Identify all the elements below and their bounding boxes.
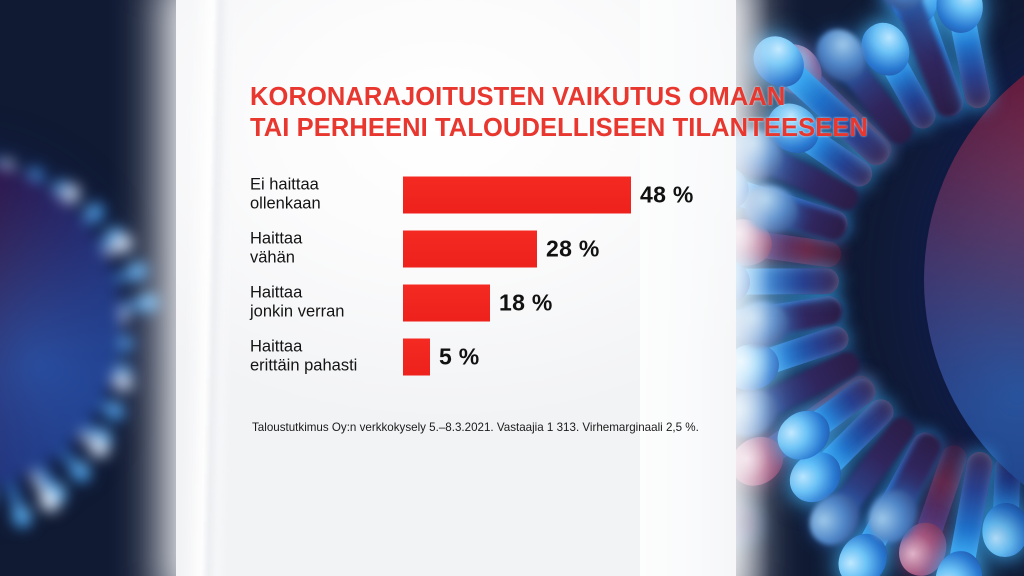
infographic-canvas: KORONARAJOITUSTEN VAIKUTUS OMAAN TAI PER… xyxy=(0,0,1024,576)
bar-value-label: 18 % xyxy=(499,290,553,317)
bar-category-label-line-2: ollenkaan xyxy=(250,195,400,214)
bar-category-label-line-2: vähän xyxy=(250,249,400,268)
source-footnote: Taloustutkimus Oy:n verkkokysely 5.–8.3.… xyxy=(252,421,892,434)
page-title: KORONARAJOITUSTEN VAIKUTUS OMAAN TAI PER… xyxy=(250,82,890,143)
title-line-1: KORONARAJOITUSTEN VAIKUTUS OMAAN xyxy=(250,82,890,113)
bar-category-label-line-1: Ei haittaa xyxy=(250,176,400,195)
bar-category-label-line-1: Haittaa xyxy=(250,230,400,249)
bar-and-value: 5 % xyxy=(403,339,480,376)
bar-category-label: Haittaavähän xyxy=(250,230,400,269)
bar-category-label: Ei haittaaollenkaan xyxy=(250,176,400,215)
bar-and-value: 28 % xyxy=(403,231,600,268)
bar-value-label: 48 % xyxy=(640,182,694,209)
chart-row: Haittaavähän28 % xyxy=(250,222,950,276)
bar-category-label-line-1: Haittaa xyxy=(250,338,400,357)
bar-and-value: 48 % xyxy=(403,177,694,214)
chart-row: Ei haittaaollenkaan48 % xyxy=(250,168,950,222)
bar xyxy=(403,231,537,268)
bar-chart: Ei haittaaollenkaan48 %Haittaavähän28 %H… xyxy=(250,168,950,384)
bar-category-label-line-2: jonkin verran xyxy=(250,303,400,322)
bar-value-label: 28 % xyxy=(546,236,600,263)
bar-category-label: Haittaajonkin verran xyxy=(250,284,400,323)
bar-value-label: 5 % xyxy=(439,344,480,371)
title-line-2: TAI PERHEENI TALOUDELLISEEN TILANTEESEEN xyxy=(250,113,890,144)
chart-row: Haittaaerittäin pahasti5 % xyxy=(250,330,950,384)
bar-category-label-line-2: erittäin pahasti xyxy=(250,357,400,376)
bar-category-label: Haittaaerittäin pahasti xyxy=(250,338,400,377)
bar xyxy=(403,177,631,214)
bar-category-label-line-1: Haittaa xyxy=(250,284,400,303)
bar xyxy=(403,285,490,322)
bar-and-value: 18 % xyxy=(403,285,553,322)
bar xyxy=(403,339,430,376)
chart-row: Haittaajonkin verran18 % xyxy=(250,276,950,330)
infographic-content: KORONARAJOITUSTEN VAIKUTUS OMAAN TAI PER… xyxy=(0,0,1024,576)
